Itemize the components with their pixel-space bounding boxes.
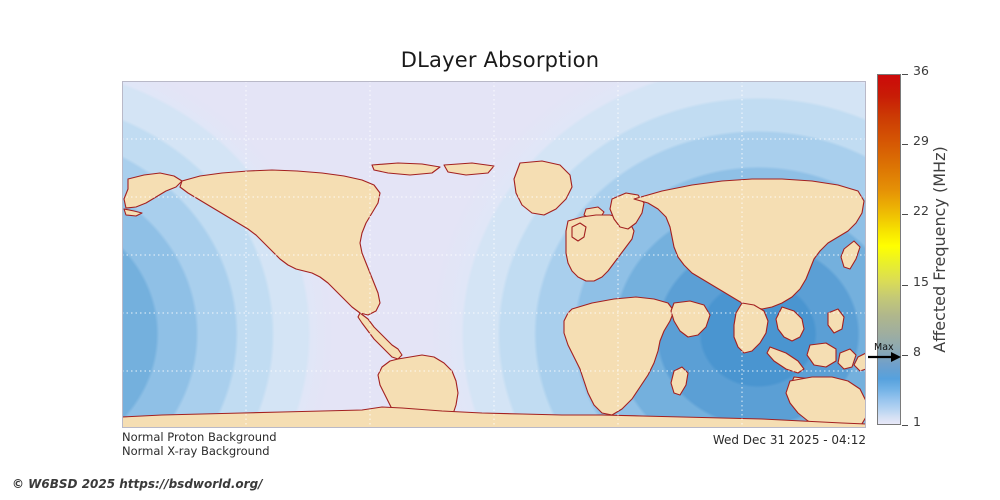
tick-label: 36 xyxy=(913,65,929,78)
timestamp-label: Wed Dec 31 2025 - 04:12 xyxy=(713,433,866,447)
tick-label: 22 xyxy=(913,205,929,218)
max-arrow-icon xyxy=(867,352,901,364)
tick-mark xyxy=(902,144,908,145)
tick-mark xyxy=(902,214,908,215)
world-map-svg xyxy=(122,81,866,428)
world-map-panel[interactable] xyxy=(122,81,866,428)
max-absorption-annotation: Max xyxy=(867,343,907,365)
colorbar-tick-1: 1 xyxy=(902,425,948,426)
tick-mark xyxy=(902,285,908,286)
colorbar-axis-label: Affected Frequency (MHz) xyxy=(930,74,954,425)
tick-label: 15 xyxy=(913,276,929,289)
page-title: DLayer Absorption xyxy=(0,48,1000,72)
tick-label: 29 xyxy=(913,135,929,148)
colorbar[interactable] xyxy=(877,74,901,425)
colorbar-gradient xyxy=(877,74,901,425)
copyright-notice: © W6BSD 2025 https://bsdworld.org/ xyxy=(12,477,263,491)
xray-background-note: Normal X-ray Background xyxy=(122,444,270,458)
proton-background-note: Normal Proton Background xyxy=(122,430,277,444)
tick-label: 8 xyxy=(913,346,921,359)
tick-mark xyxy=(902,74,908,75)
tick-label: 1 xyxy=(913,416,921,429)
tick-mark xyxy=(902,425,908,426)
